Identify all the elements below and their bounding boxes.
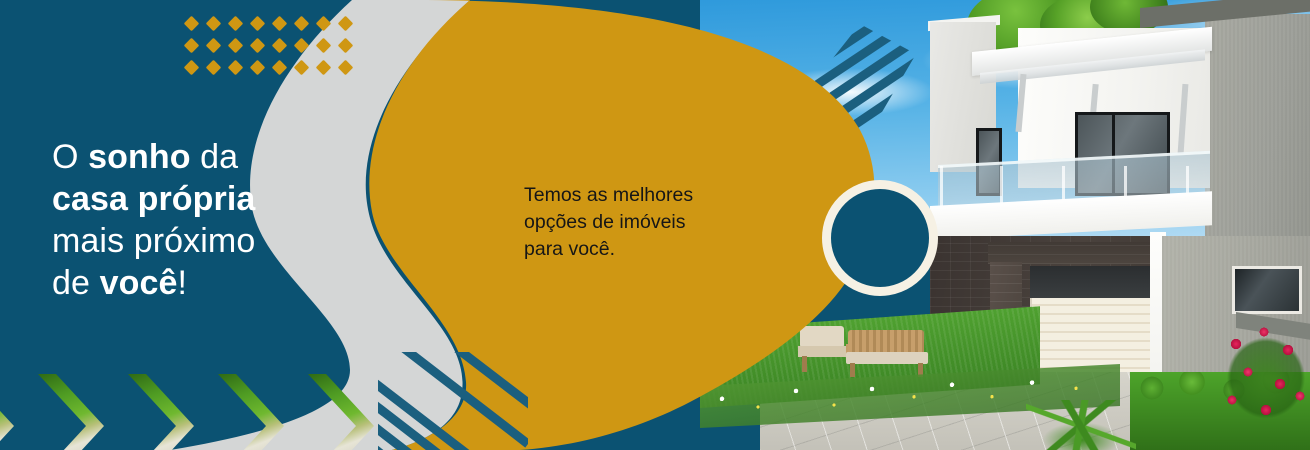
headline-line-4-light-a: de bbox=[52, 264, 100, 302]
diamond-dot-icon bbox=[337, 37, 353, 53]
diamond-dot-icon bbox=[315, 59, 331, 75]
subcopy: Temos as melhores opções de imóveis para… bbox=[524, 182, 693, 263]
diamond-dot-icon bbox=[337, 15, 353, 31]
diamond-dot-icon bbox=[249, 37, 265, 53]
diamond-dot-icon bbox=[271, 37, 287, 53]
headline-line-1-bold: sonho bbox=[88, 138, 190, 176]
headline-line-2: casa própria bbox=[52, 178, 255, 220]
headline-line-3-light: mais próximo bbox=[52, 222, 255, 260]
decorative-ring-circle bbox=[822, 180, 938, 296]
diamond-dot-icon bbox=[271, 59, 287, 75]
diamond-dot-icon bbox=[293, 59, 309, 75]
diamond-dot-icon bbox=[227, 37, 243, 53]
headline-line-4: de você! bbox=[52, 262, 255, 304]
diagonal-stripes-bottom bbox=[378, 352, 528, 450]
diamond-dot-icon bbox=[205, 15, 221, 31]
diamond-dot-icon bbox=[183, 15, 199, 31]
headline-line-3: mais próximo bbox=[52, 220, 255, 262]
diamond-dot-icon bbox=[205, 37, 221, 53]
subcopy-line-3: para você. bbox=[524, 236, 693, 263]
headline-line-2-bold: casa própria bbox=[52, 180, 255, 218]
headline-line-1-light-a: O bbox=[52, 138, 88, 176]
diamond-dot-icon bbox=[227, 59, 243, 75]
headline-line-4-light-b: ! bbox=[177, 264, 187, 302]
promo-banner: O sonho da casa própria mais próximo de … bbox=[0, 0, 1310, 450]
diamond-dot-icon bbox=[337, 59, 353, 75]
headline-line-1: O sonho da bbox=[52, 136, 255, 178]
dot-grid-decoration bbox=[180, 12, 356, 78]
headline: O sonho da casa própria mais próximo de … bbox=[52, 136, 255, 304]
subcopy-line-2: opções de imóveis bbox=[524, 209, 693, 236]
diamond-dot-icon bbox=[183, 59, 199, 75]
diamond-dot-icon bbox=[271, 15, 287, 31]
diamond-dot-icon bbox=[249, 15, 265, 31]
diamond-dot-icon bbox=[293, 37, 309, 53]
diamond-dot-icon bbox=[315, 37, 331, 53]
diamond-dot-icon bbox=[227, 15, 243, 31]
subcopy-line-1: Temos as melhores bbox=[524, 182, 693, 209]
headline-line-4-bold: você bbox=[100, 264, 178, 302]
diamond-dot-icon bbox=[315, 15, 331, 31]
diamond-dot-icon bbox=[205, 59, 221, 75]
diamond-dot-icon bbox=[293, 15, 309, 31]
diamond-dot-icon bbox=[183, 37, 199, 53]
headline-line-1-light-b: da bbox=[191, 138, 239, 176]
diamond-dot-icon bbox=[249, 59, 265, 75]
